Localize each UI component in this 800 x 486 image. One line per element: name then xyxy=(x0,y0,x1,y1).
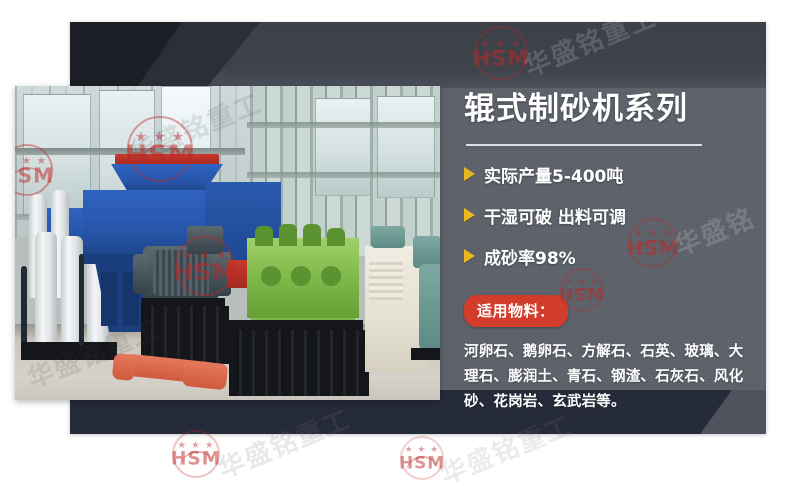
title-divider xyxy=(466,144,702,146)
photo-gearbox-port xyxy=(291,266,311,286)
photo-cabinet-vent xyxy=(369,258,403,300)
photo-hopper-rim xyxy=(115,154,219,165)
photo-cylinder xyxy=(35,232,57,344)
photo-gearbox-cap xyxy=(279,224,297,246)
feature-list: 实际产量5-400吨 干湿可破 出料可调 成砂率98% xyxy=(464,162,760,269)
photo-drive-shaft-flange xyxy=(182,360,228,390)
photo-motor-box xyxy=(187,226,223,254)
feature-label: 实际产量5-400吨 xyxy=(484,162,623,187)
photo-motor-fins xyxy=(153,250,209,296)
photo-gearbox-cap xyxy=(303,224,321,246)
photo-gearbox-port xyxy=(261,266,281,286)
list-item: 干湿可破 出料可调 xyxy=(464,203,760,228)
photo-blower-body xyxy=(419,264,440,350)
list-item: 实际产量5-400吨 xyxy=(464,162,760,187)
photo-drive-shaft-flange xyxy=(112,353,137,381)
photo-base-ribs xyxy=(229,330,369,396)
materials-badge: 适用物料： xyxy=(464,295,568,327)
materials-text: 河卵石、鹅卵石、方解石、石英、玻璃、大理石、膨润土、青石、钢渣、石灰石、风化砂、… xyxy=(464,340,748,415)
photo-gearbox-cap xyxy=(255,226,273,246)
list-item: 成砂率98% xyxy=(464,244,760,269)
photo-machine-base xyxy=(411,348,440,360)
page-title: 辊式制砂机系列 xyxy=(464,92,760,128)
banner-image: 华盛铭重工 ★ ★ ★ HSM ★ ★ ★ HSM 华盛铭重工 ★ ★ ★ HS… xyxy=(0,0,800,486)
photo-beam xyxy=(247,122,440,128)
photo-beam xyxy=(247,172,440,178)
arrow-right-icon xyxy=(464,167,475,181)
photo-machine-base xyxy=(21,342,117,360)
photo-window xyxy=(377,96,435,198)
photo-motor-end xyxy=(133,254,149,294)
product-photo: 华盛铭重工 ★ ★ ★ HSM ★ ★ ★ HSM 华盛铭重工 ★ ★ ★ HS… xyxy=(15,86,440,400)
feature-label: 成砂率98% xyxy=(484,244,576,269)
feature-label: 干湿可破 出料可调 xyxy=(484,203,626,228)
photo-pipe xyxy=(21,266,27,352)
photo-window xyxy=(315,98,371,196)
arrow-right-icon xyxy=(464,208,475,222)
photo-gearbox-port xyxy=(321,266,341,286)
text-column: 辊式制砂机系列 实际产量5-400吨 干湿可破 出料可调 成砂率98% 适用物料… xyxy=(464,92,760,414)
photo-pipe xyxy=(79,254,84,346)
photo-crusher-rib xyxy=(101,272,117,326)
photo-base-ribs xyxy=(141,306,229,364)
photo-gearbox-cap xyxy=(327,228,345,246)
arrow-right-icon xyxy=(464,249,475,263)
photo-cabinet-top-unit xyxy=(371,226,405,248)
